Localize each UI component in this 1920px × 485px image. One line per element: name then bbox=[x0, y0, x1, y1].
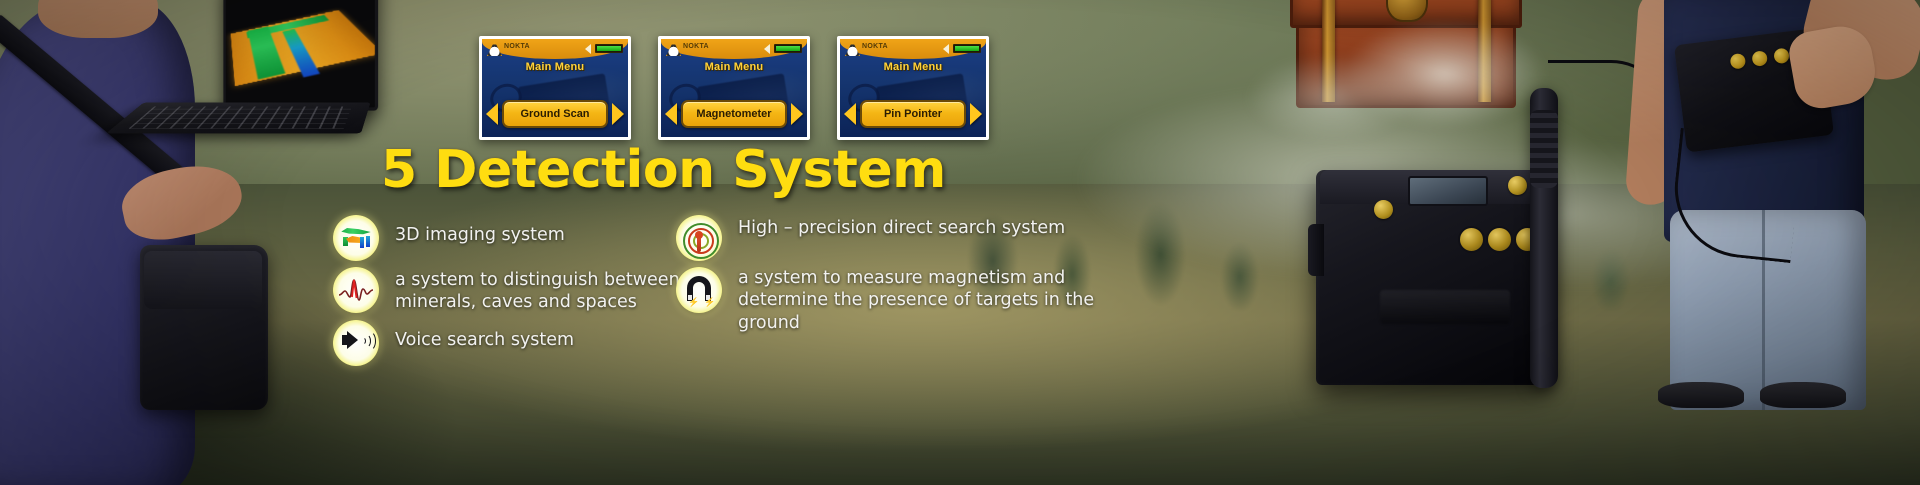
panel-selector-row: Magnetometer bbox=[661, 100, 807, 128]
arrow-left-icon[interactable] bbox=[844, 103, 856, 125]
mode-button[interactable]: Ground Scan bbox=[502, 100, 608, 128]
panel-magnetometer[interactable]: NOKTA Main Menu Magnetometer bbox=[658, 36, 810, 140]
battery-icon bbox=[774, 44, 802, 53]
device-screen-panels: NOKTA Main Menu Ground Scan NOKTA Main M… bbox=[479, 36, 989, 140]
mode-button[interactable]: Pin Pointer bbox=[860, 100, 966, 128]
feature-list-right: High – precision direct search system ⚡⚡… bbox=[676, 215, 1146, 340]
battery-icon bbox=[595, 44, 623, 53]
page-title: 5 Detection System bbox=[381, 140, 841, 200]
panel-brand-label: NOKTA bbox=[504, 43, 530, 50]
feature-magnetism: ⚡⚡ a system to measure magnetism and det… bbox=[676, 267, 1146, 334]
magnet-icon: ⚡⚡ bbox=[676, 267, 722, 313]
panel-title: Main Menu bbox=[661, 61, 807, 73]
panel-title: Main Menu bbox=[840, 61, 986, 73]
3d-scan-icon bbox=[333, 215, 379, 261]
panel-selector-row: Pin Pointer bbox=[840, 100, 986, 128]
panel-brand-label: NOKTA bbox=[683, 43, 709, 50]
volume-icon bbox=[764, 44, 770, 54]
product-banner: NOKTA Main Menu Ground Scan NOKTA Main M… bbox=[0, 0, 1920, 485]
panel-ground-scan[interactable]: NOKTA Main Menu Ground Scan bbox=[479, 36, 631, 140]
panel-brand-label: NOKTA bbox=[862, 43, 888, 50]
speaker-icon bbox=[333, 320, 379, 366]
arrow-left-icon[interactable] bbox=[486, 103, 498, 125]
feature-label: High – precision direct search system bbox=[738, 215, 1065, 239]
panel-selector-row: Ground Scan bbox=[482, 100, 628, 128]
feature-label: Voice search system bbox=[395, 320, 574, 351]
arrow-right-icon[interactable] bbox=[791, 103, 803, 125]
feature-label: a system to measure magnetism and determ… bbox=[738, 267, 1146, 334]
arrow-left-icon[interactable] bbox=[665, 103, 677, 125]
waveform-icon bbox=[333, 267, 379, 313]
arrow-right-icon[interactable] bbox=[612, 103, 624, 125]
battery-icon bbox=[953, 44, 981, 53]
signal-target-icon bbox=[676, 215, 722, 261]
mode-button[interactable]: Magnetometer bbox=[681, 100, 787, 128]
panel-pin-pointer[interactable]: NOKTA Main Menu Pin Pointer bbox=[837, 36, 989, 140]
volume-icon bbox=[585, 44, 591, 54]
panel-title: Main Menu bbox=[482, 61, 628, 73]
volume-icon bbox=[943, 44, 949, 54]
feature-label: 3D imaging system bbox=[395, 215, 565, 246]
arrow-right-icon[interactable] bbox=[970, 103, 982, 125]
feature-high-precision-search: High – precision direct search system bbox=[676, 215, 1146, 261]
